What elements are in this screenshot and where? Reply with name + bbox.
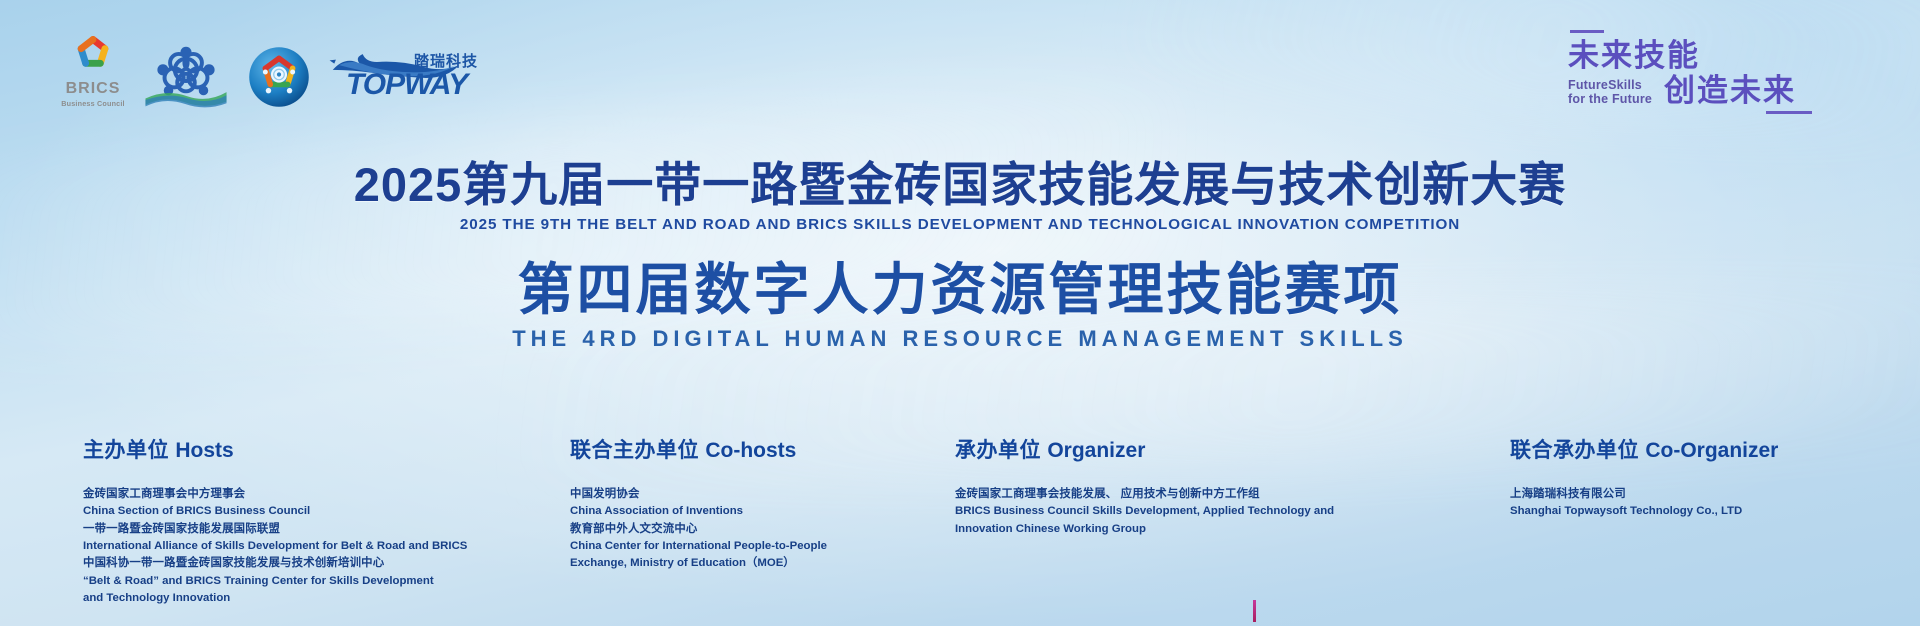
slogan-rule-top [1570,30,1604,33]
organizer-line: 中国发明协会 [570,486,900,503]
main-title-chinese: 2025第九届一带一路暨金砖国家技能发展与技术创新大赛 [0,160,1920,211]
main-title-english: 2025 THE 9TH THE BELT AND ROAD AND BRICS… [0,216,1920,233]
organizer-line: Exchange, Ministry of Education（MOE） [570,555,900,572]
organizer-body: 中国发明协会 China Association of Inventions 教… [570,486,900,573]
sub-title-chinese: 第四届数字人力资源管理技能赛项 [0,259,1920,321]
organizer-body: 金砖国家工商理事会技能发展、 应用技术与创新中方工作组 BRICS Busine… [955,486,1375,538]
brics-subtext: Business Council [61,99,125,108]
topway-logo: 踏瑞科技 TOPWAY [328,46,478,108]
organizer-heading-en: Hosts [175,439,233,462]
title-block: 2025第九届一带一路暨金砖国家技能发展与技术创新大赛 2025 THE 9TH… [0,160,1920,352]
organizer-heading: 联合承办单位 Co-Organizer [1510,434,1890,464]
bottom-color-mark [1253,600,1256,622]
competition-banner: BRICS Business Council [0,0,1920,626]
skills-competition-emblem-logo [248,46,310,108]
organizer-line: Shanghai Topwaysoft Technology Co., LTD [1510,503,1890,520]
organizer-line: China Center for International People-to… [570,538,900,555]
organizer-line: China Association of Inventions [570,503,900,520]
organizer-heading: 主办单位 Hosts [83,434,483,464]
organizer-heading: 联合主办单位 Co-hosts [570,434,900,464]
brics-wordmark: BRICS [66,81,121,97]
topway-wordmark: TOPWAY [346,68,467,102]
organizer-column-co-organizer: 联合承办单位 Co-Organizer 上海踏瑞科技有限公司 Shanghai … [1510,434,1890,521]
slogan-line-2: 创造未来 [1664,75,1796,108]
organizer-heading-en: Co-hosts [705,439,796,462]
organizer-column-co-hosts: 联合主办单位 Co-hosts 中国发明协会 China Association… [570,434,900,573]
organizer-column-organizer: 承办单位 Organizer 金砖国家工商理事会技能发展、 应用技术与创新中方工… [955,434,1375,538]
organizer-line: 金砖国家工商理事会中方理事会 [83,486,483,503]
brics-star-icon [70,34,116,78]
organizer-line: International Alliance of Skills Develop… [83,538,483,555]
slogan-rule-bottom [1766,111,1812,114]
belt-road-brics-alliance-logo [142,46,230,108]
future-skills-slogan: 未来技能 FutureSkills for the Future 创造未来 [1568,30,1868,114]
organizer-heading-cn: 主办单位 [83,439,169,462]
organizer-line: 教育部中外人文交流中心 [570,521,900,538]
sub-title-english: THE 4RD DIGITAL HUMAN RESOURCE MANAGEMEN… [0,326,1920,352]
slogan-line-1: 未来技能 [1568,40,1868,73]
slogan-en-line-1: FutureSkills [1568,78,1652,93]
organizer-line: 中国科协一带一路暨金砖国家技能发展与技术创新培训中心 [83,555,483,572]
organizer-line: 上海踏瑞科技有限公司 [1510,486,1890,503]
brics-business-council-logo: BRICS Business Council [62,34,124,108]
alliance-emblem-icon [142,46,230,108]
organizer-column-hosts: 主办单位 Hosts 金砖国家工商理事会中方理事会 China Section … [83,434,483,607]
organizer-heading-en: Organizer [1047,439,1145,462]
organizer-heading: 承办单位 Organizer [955,434,1375,464]
organizer-line: “Belt & Road” and BRICS Training Center … [83,573,483,590]
organizer-body: 金砖国家工商理事会中方理事会 China Section of BRICS Bu… [83,486,483,607]
organizer-heading-cn: 承办单位 [955,439,1041,462]
organizer-body: 上海踏瑞科技有限公司 Shanghai Topwaysoft Technolog… [1510,486,1890,521]
organizer-line: BRICS Business Council Skills Developmen… [955,503,1375,520]
organizer-heading-cn: 联合承办单位 [1510,439,1639,462]
competition-emblem-icon [248,46,310,108]
organizer-heading-en: Co-Organizer [1645,439,1778,462]
logo-row: BRICS Business Council [62,34,478,108]
organizer-heading-cn: 联合主办单位 [570,439,699,462]
organizer-section: 主办单位 Hosts 金砖国家工商理事会中方理事会 China Section … [0,434,1920,614]
organizer-line: and Technology Innovation [83,590,483,607]
organizer-line: Innovation Chinese Working Group [955,521,1375,538]
organizer-line: 一带一路暨金砖国家技能发展国际联盟 [83,521,483,538]
organizer-line: 金砖国家工商理事会技能发展、 应用技术与创新中方工作组 [955,486,1375,503]
slogan-en-line-2: for the Future [1568,92,1652,107]
organizer-line: China Section of BRICS Business Council [83,503,483,520]
